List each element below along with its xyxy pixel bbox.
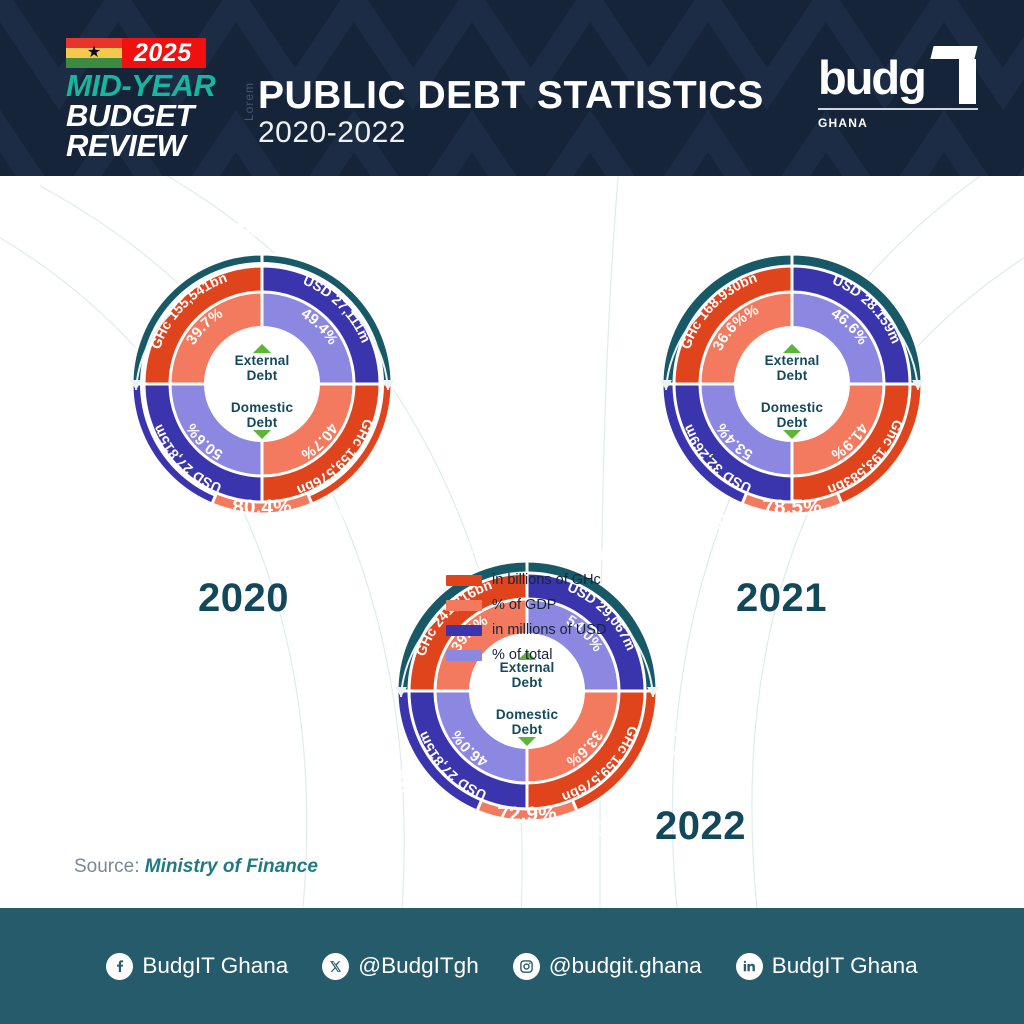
- external-debt-label-l2: Debt: [357, 675, 697, 690]
- arrow-up-icon: [783, 344, 801, 353]
- budgit-logo-text: budg: [818, 51, 925, 104]
- page-title-block: PUBLIC DEBT STATISTICS 2020-2022: [258, 76, 764, 150]
- ghana-flag-icon: ★: [66, 38, 122, 68]
- linkedin-icon: [736, 953, 763, 980]
- social-footer: BudgIT Ghana @BudgITgh @budgit.ghana Bud…: [0, 908, 1024, 1024]
- social-label-linkedin: BudgIT Ghana: [772, 953, 918, 979]
- donut-2021-center-domestic: Domestic Debt: [622, 400, 962, 439]
- instagram-icon: [513, 953, 540, 980]
- legend-label-usd-millions: in millions of USD: [492, 622, 606, 638]
- domestic-debt-label-l1: Domestic: [357, 707, 697, 722]
- legend-swatch-ghc-billions: [446, 575, 482, 586]
- domestic-debt-label-l1: Domestic: [92, 400, 432, 415]
- donut-chart-2021: Total Public Debt USD 60,428m GHC 362,51…: [622, 214, 962, 554]
- legend-swatch-pct-total: [446, 650, 482, 661]
- legend-label-ghc-billions: in billions of GHc: [492, 572, 601, 588]
- year-label-2022: 2022: [655, 804, 746, 849]
- chart-legend: in billions of GHc % of GDP in millions …: [446, 572, 606, 672]
- year-label-2020: 2020: [198, 576, 289, 621]
- donut-2022-center-domestic: Domestic Debt: [357, 707, 697, 746]
- donut-chart-2020: Total Public Debt USD 54,926m GHC 315,11…: [92, 214, 432, 554]
- legend-label-pct-gdp: % of GDP: [492, 597, 556, 613]
- domestic-debt-label-l2: Debt: [622, 415, 962, 430]
- legend-label-pct-total: % of total: [492, 647, 552, 663]
- donut-2020-center-external: External Debt: [92, 344, 432, 383]
- page-title: PUBLIC DEBT STATISTICS: [258, 76, 764, 116]
- social-label-instagram: @budgit.ghana: [549, 953, 702, 979]
- mid-year-budget-review-badge: ★ 2025 MID-YEAR BUDGET REVIEW: [66, 38, 266, 161]
- budgit-logo: budg GHANA: [818, 52, 978, 130]
- arrow-down-icon: [253, 430, 271, 439]
- legend-item: in millions of USD: [446, 622, 606, 638]
- source-prefix: Source:: [74, 856, 145, 877]
- header-line-budget: BUDGET: [66, 101, 266, 131]
- legend-item: in billions of GHc: [446, 572, 606, 588]
- vertical-lorem-text: Lorem: [242, 82, 256, 121]
- domestic-debt-label-l2: Debt: [357, 722, 697, 737]
- year-label-2021: 2021: [736, 576, 827, 621]
- donut-2020-center-domestic: Domestic Debt: [92, 400, 432, 439]
- donut-2022-outer-bottom: 72.9%: [497, 803, 557, 826]
- source-line: Source: Ministry of Finance: [74, 856, 318, 878]
- legend-item: % of total: [446, 647, 606, 663]
- donut-2021-center-external: External Debt: [622, 344, 962, 383]
- budgit-logo-bar-right: [959, 59, 976, 104]
- facebook-icon: [106, 953, 133, 980]
- legend-swatch-usd-millions: [446, 625, 482, 636]
- header-line-review: REVIEW: [66, 131, 266, 161]
- donut-2020-outer-bottom: 80.4%: [232, 496, 292, 519]
- external-debt-label-l1: External: [92, 353, 432, 368]
- social-label-x-twitter: @BudgITgh: [358, 953, 478, 979]
- social-x-twitter[interactable]: @BudgITgh: [322, 953, 478, 980]
- legend-item: % of GDP: [446, 597, 606, 613]
- flag-star-icon: ★: [87, 45, 101, 61]
- domestic-debt-label-l1: Domestic: [622, 400, 962, 415]
- external-debt-label-l2: Debt: [92, 368, 432, 383]
- external-debt-label-l2: Debt: [622, 368, 962, 383]
- donut-2021-outer-bottom: 78.5%: [762, 496, 822, 519]
- year-badge: 2025: [122, 38, 206, 68]
- social-instagram[interactable]: @budgit.ghana: [513, 953, 702, 980]
- arrow-down-icon: [518, 737, 536, 746]
- external-debt-label-l1: External: [622, 353, 962, 368]
- header-line-midyear: MID-YEAR: [66, 71, 266, 101]
- arrow-down-icon: [783, 430, 801, 439]
- x-twitter-icon: [322, 953, 349, 980]
- budgit-logo-bar-top: [930, 46, 977, 59]
- legend-swatch-pct-gdp: [446, 600, 482, 611]
- social-label-facebook: BudgIT Ghana: [142, 953, 288, 979]
- page-header: ★ 2025 MID-YEAR BUDGET REVIEW Lorem PUBL…: [0, 0, 1024, 176]
- page-subtitle: 2020-2022: [258, 116, 764, 151]
- domestic-debt-label-l2: Debt: [92, 415, 432, 430]
- chart-canvas: Total Public Debt USD 54,926m GHC 315,11…: [0, 176, 1024, 908]
- budgit-logo-rule: [818, 108, 978, 110]
- social-linkedin[interactable]: BudgIT Ghana: [736, 953, 918, 980]
- source-value: Ministry of Finance: [145, 856, 318, 877]
- social-facebook[interactable]: BudgIT Ghana: [106, 953, 288, 980]
- budgit-logo-country: GHANA: [818, 116, 978, 130]
- arrow-up-icon: [253, 344, 271, 353]
